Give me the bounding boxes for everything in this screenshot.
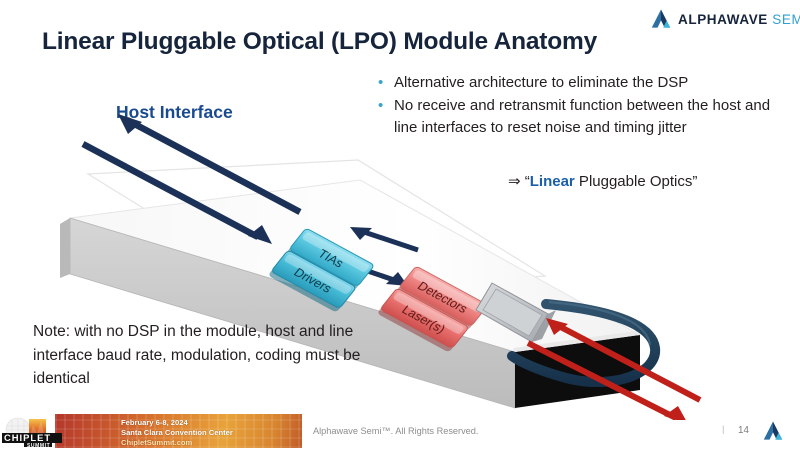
host-arrow-out-head-icon bbox=[118, 114, 142, 134]
slide-canvas: ALPHAWAVE SEMI Linear Pluggable Optical … bbox=[0, 0, 800, 450]
chiplet-summit-logo-icon: CHIPLET SUMMIT bbox=[2, 417, 72, 447]
event-venue: Santa Clara Convention Center bbox=[121, 428, 233, 438]
copyright-text: Alphawave Semi™. All Rights Reserved. bbox=[313, 426, 478, 436]
chiplet-summit-banner: February 6-8, 2024 Santa Clara Conventio… bbox=[55, 414, 302, 448]
brand-name-semi: SEMI bbox=[772, 12, 800, 27]
event-website: ChipletSummit.com bbox=[121, 438, 233, 448]
brand-name-alphawave: ALPHAWAVE bbox=[678, 12, 768, 27]
page-title: Linear Pluggable Optical (LPO) Module An… bbox=[42, 28, 662, 56]
svg-text:SUMMIT: SUMMIT bbox=[27, 443, 50, 447]
page-number: 14 bbox=[738, 425, 749, 436]
event-date: February 6-8, 2024 bbox=[121, 418, 233, 428]
alphawave-triangle-logo-icon bbox=[650, 8, 672, 30]
brand-wordmark: ALPHAWAVE SEMI bbox=[678, 12, 800, 27]
svg-text:CHIPLET: CHIPLET bbox=[4, 432, 51, 443]
footer-separator: | bbox=[722, 424, 724, 435]
note-text: Note: with no DSP in the module, host an… bbox=[33, 320, 383, 391]
brand-logo: ALPHAWAVE SEMI bbox=[650, 8, 800, 30]
alphawave-triangle-logo-icon bbox=[762, 420, 784, 442]
slide-footer: February 6-8, 2024 Santa Clara Conventio… bbox=[0, 412, 800, 450]
event-details: February 6-8, 2024 Santa Clara Conventio… bbox=[121, 418, 233, 448]
